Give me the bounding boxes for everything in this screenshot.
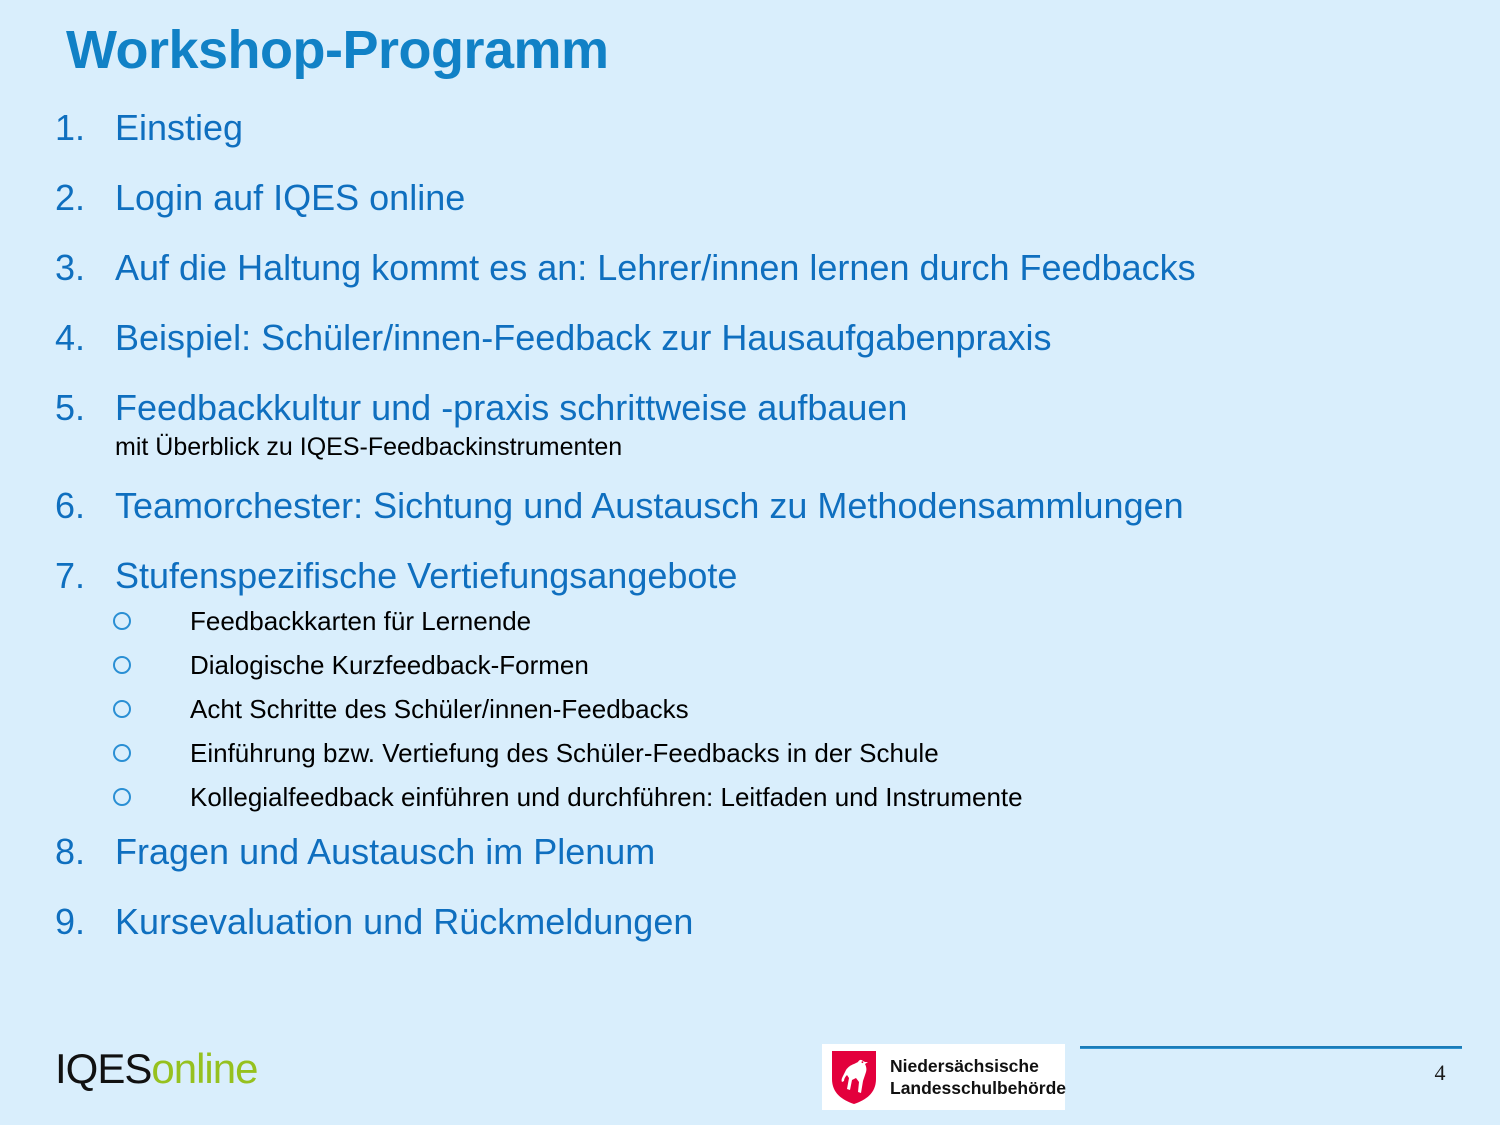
list-item: 3. Auf die Haltung kommt es an: Lehrer/i… <box>0 250 1500 286</box>
list-item: 6. Teamorchester: Sichtung und Austausch… <box>0 488 1500 524</box>
list-item-number: 5. <box>0 390 115 426</box>
sub-list-item-label: Kollegialfeedback einführen und durchfüh… <box>190 784 1023 810</box>
list-item-label: Stufenspezifische Vertiefungsangebote <box>115 558 737 594</box>
sub-list-item-label: Dialogische Kurzfeedback-Formen <box>190 652 589 678</box>
list-item-label: Fragen und Austausch im Plenum <box>115 834 655 870</box>
list-item: 7. Stufenspezifische Vertiefungsangebote <box>0 558 1500 594</box>
sub-list: Feedbackkarten für Lernende Dialogische … <box>0 606 1500 812</box>
page-title: Workshop-Programm <box>66 22 609 79</box>
list-item: 8. Fragen und Austausch im Plenum <box>0 834 1500 870</box>
list-item: 2. Login auf IQES online <box>0 180 1500 216</box>
sub-list-item: Einführung bzw. Vertiefung des Schüler-F… <box>0 738 1500 768</box>
list-item-number: 7. <box>0 558 115 594</box>
list-item-label: Feedbackkultur und -praxis schrittweise … <box>115 390 907 426</box>
list-item: 5. Feedbackkultur und -praxis schrittwei… <box>0 390 1500 426</box>
sub-list-item: Feedbackkarten für Lernende <box>0 606 1500 636</box>
list-item-number: 6. <box>0 488 115 524</box>
sub-list-item-label: Acht Schritte des Schüler/innen-Feedback… <box>190 696 689 722</box>
circle-bullet-icon <box>113 656 131 674</box>
list-item-number: 8. <box>0 834 115 870</box>
list-item-number: 9. <box>0 904 115 940</box>
nlsb-logo-line1: Niedersächsische <box>890 1055 1066 1077</box>
list-item: 9. Kursevaluation und Rückmeldungen <box>0 904 1500 940</box>
circle-bullet-icon <box>113 700 131 718</box>
list-item-number: 4. <box>0 320 115 356</box>
sub-list-item-label: Einführung bzw. Vertiefung des Schüler-F… <box>190 740 939 766</box>
list-item-label: Beispiel: Schüler/innen-Feedback zur Hau… <box>115 320 1052 356</box>
list-item: 4. Beispiel: Schüler/innen-Feedback zur … <box>0 320 1500 356</box>
iqes-logo-suffix: online <box>151 1045 257 1092</box>
slide-footer: IQESonline Niedersächsische Landesschulb… <box>0 1030 1500 1125</box>
list-item-label: Kursevaluation und Rückmeldungen <box>115 904 693 940</box>
list-item-label: Login auf IQES online <box>115 180 465 216</box>
nlsb-logo-line2: Landesschulbehörde <box>890 1077 1066 1099</box>
list-item-note: mit Überblick zu IQES-Feedbackinstrument… <box>115 434 1500 462</box>
page-number: 4 <box>1420 1060 1460 1086</box>
circle-bullet-icon <box>113 612 131 630</box>
footer-divider <box>1080 1046 1462 1049</box>
nlsb-logo-text: Niedersächsische Landesschulbehörde <box>890 1055 1066 1100</box>
list-item-label: Einstieg <box>115 110 243 146</box>
list-item-label: Teamorchester: Sichtung und Austausch zu… <box>115 488 1184 524</box>
niedersaechsische-landesschulbehoerde-logo: Niedersächsische Landesschulbehörde <box>822 1044 1065 1110</box>
circle-bullet-icon <box>113 788 131 806</box>
list-item: 1. Einstieg <box>0 110 1500 146</box>
saxon-steed-shield-icon <box>830 1049 878 1105</box>
circle-bullet-icon <box>113 744 131 762</box>
list-item-number: 3. <box>0 250 115 286</box>
slide: Workshop-Programm 1. Einstieg 2. Login a… <box>0 0 1500 1125</box>
iqes-online-logo: IQESonline <box>55 1048 257 1090</box>
agenda-list: 1. Einstieg 2. Login auf IQES online 3. … <box>0 110 1500 974</box>
list-item-label: Auf die Haltung kommt es an: Lehrer/inne… <box>115 250 1196 286</box>
sub-list-item-label: Feedbackkarten für Lernende <box>190 608 531 634</box>
iqes-logo-mark: IQES <box>55 1045 151 1092</box>
list-item-number: 1. <box>0 110 115 146</box>
list-item-number: 2. <box>0 180 115 216</box>
sub-list-item: Kollegialfeedback einführen und durchfüh… <box>0 782 1500 812</box>
sub-list-item: Acht Schritte des Schüler/innen-Feedback… <box>0 694 1500 724</box>
sub-list-item: Dialogische Kurzfeedback-Formen <box>0 650 1500 680</box>
